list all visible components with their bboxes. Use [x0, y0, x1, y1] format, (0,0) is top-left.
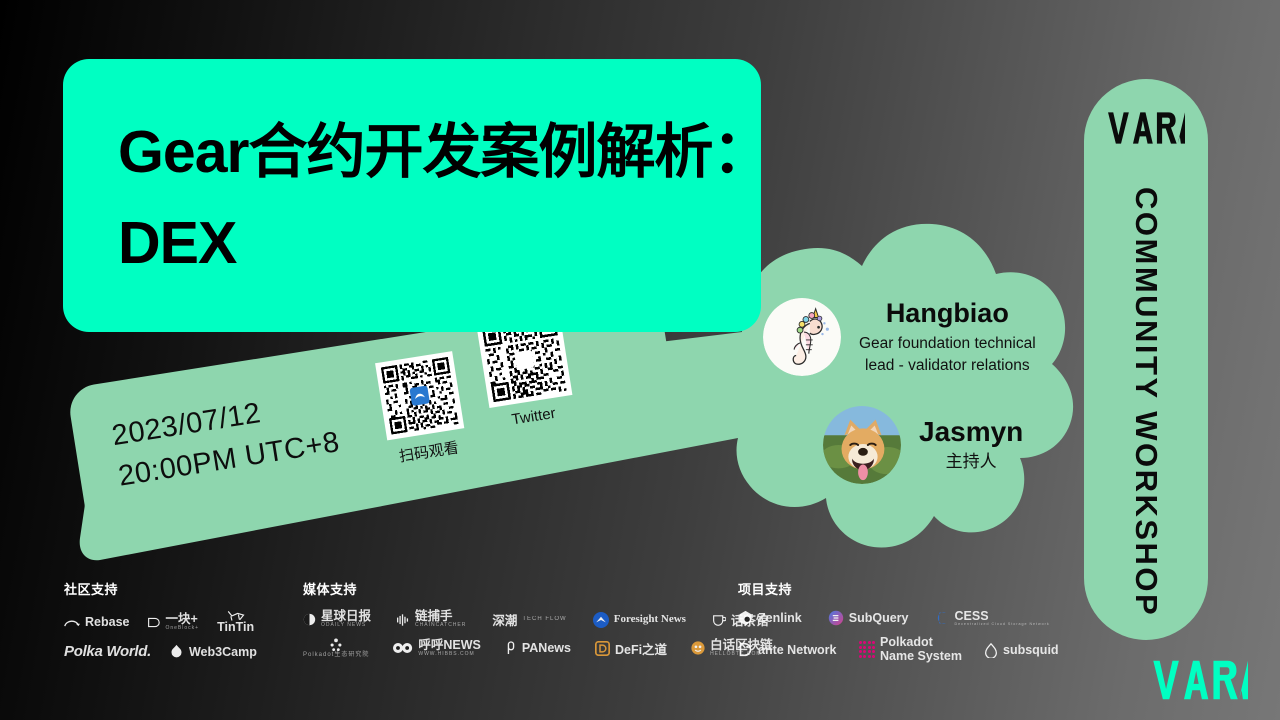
community-workshop-pill: COMMUNITY WORKSHOP	[1084, 79, 1208, 640]
sponsor-sublabel: Decentralized Cloud Storage Network	[955, 623, 1050, 627]
sponsors-community-heading: 社区支持	[64, 579, 257, 598]
twitter-qr-center-logo	[514, 350, 535, 371]
sponsor-tintin[interactable]: TinTin	[217, 610, 254, 634]
qr-caption-twitter: Twitter	[511, 405, 557, 429]
speaker-card-hangbiao: Hangbiao Gear foundation technical lead …	[763, 298, 1036, 376]
sponsor-foresight-news[interactable]: Foresight News	[593, 612, 686, 628]
avatar-jasmyn	[823, 406, 901, 484]
hexagon-icon	[738, 610, 753, 626]
bb-icon	[393, 642, 413, 654]
sponsor-row: Polka World. Web3Camp	[64, 643, 257, 660]
sponsor-sublabel: TECH FLOW	[522, 616, 566, 623]
sponsor-subsquid[interactable]: subsquid	[984, 642, 1059, 658]
sponsor-polkaworld[interactable]: Polka World.	[64, 643, 151, 660]
face-icon	[691, 641, 705, 655]
sponsor-sublabel: OneBlock+	[165, 626, 199, 631]
sponsor-huhu-news[interactable]: 呼呼NEWS WWW.HIBBS.COM	[393, 639, 481, 657]
d-icon	[738, 642, 753, 657]
title-line-1: Gear合约开发案例解析：	[118, 107, 727, 198]
qr-group: 扫码观看	[375, 332, 580, 468]
sponsors-media: 媒体支持 星球日报 ODAILY NEWS 链捕手 CHAINCATCHER 深…	[303, 579, 773, 667]
flame-icon	[169, 644, 184, 659]
polkadot-dots-icon	[329, 638, 343, 652]
d-square-icon	[595, 641, 610, 656]
sponsor-label: Foresight News	[614, 614, 686, 626]
sponsor-subquery[interactable]: SubQuery	[828, 610, 909, 626]
side-pill-label: COMMUNITY WORKSHOP	[1128, 187, 1164, 617]
title-panel: Gear合约开发案例解析： DEX	[63, 59, 761, 332]
diamond-icon	[593, 612, 609, 628]
sponsor-label: PANews	[522, 641, 571, 655]
pa-icon	[505, 641, 517, 655]
sponsor-label: Polkadot Name System	[880, 636, 962, 664]
arc-arrow-icon	[64, 618, 80, 627]
squid-icon	[984, 642, 998, 658]
sponsor-oneblock[interactable]: 一块+ OneBlock+	[147, 613, 199, 631]
bars-icon	[397, 614, 410, 626]
sponsor-defi-zhidao[interactable]: DeFi之道	[595, 639, 667, 658]
wechat-channel-icon	[410, 385, 431, 406]
sponsor-label: subsquid	[1003, 643, 1059, 657]
speaker-name: Hangbiao	[859, 298, 1036, 329]
sponsor-row: Rebase 一块+ OneBlock+ TinTin	[64, 610, 257, 634]
oneblock-icon	[147, 616, 160, 629]
speaker-role: 主持人	[919, 450, 1023, 473]
sponsor-row: ante Network Polkadot Name System subsqu…	[738, 636, 1059, 664]
vara-logo-icon	[1107, 105, 1185, 151]
shiba-dog-avatar-icon	[823, 406, 901, 484]
sponsors-project-heading: 项目支持	[738, 579, 1059, 598]
sponsor-polkadot-name-system[interactable]: Polkadot Name System	[859, 636, 963, 664]
sponsor-label: ante Network	[758, 643, 837, 657]
watch-qr-code[interactable]	[375, 351, 464, 440]
title-line-2: DEX	[118, 198, 727, 289]
c-shield-icon	[935, 610, 950, 626]
sponsor-sublabel: ODAILY NEWS	[321, 623, 371, 628]
event-datetime-text: 2023/07/12 20:00PM UTC+8	[109, 381, 342, 497]
speaker-card-jasmyn: Jasmyn 主持人	[823, 406, 1023, 484]
sponsor-row: 星球日报 ODAILY NEWS 链捕手 CHAINCATCHER 深潮 TEC…	[303, 610, 773, 629]
sponsor-techflow[interactable]: 深潮 TECH FLOW	[492, 610, 566, 629]
sponsor-label: 深潮	[492, 610, 517, 629]
sponsor-label: Polkadot生态研究院	[303, 652, 369, 658]
sponsors-media-heading: 媒体支持	[303, 579, 773, 598]
sponsor-sublabel: WWW.HIBBS.COM	[418, 652, 481, 657]
sponsor-ante-network[interactable]: ante Network	[738, 642, 837, 657]
sponsor-cess[interactable]: CESS Decentralized Cloud Storage Network	[935, 610, 1050, 627]
sponsor-rebase[interactable]: Rebase	[64, 615, 129, 629]
sponsor-label: TinTin	[217, 621, 254, 634]
sponsor-web3camp[interactable]: Web3Camp	[169, 644, 257, 659]
sponsor-label: Zenlink	[758, 611, 802, 625]
sponsor-sublabel: CHAINCATCHER	[415, 623, 466, 628]
sponsor-label: SubQuery	[849, 611, 909, 625]
cup-icon	[712, 613, 726, 626]
circle-half-icon	[303, 613, 316, 626]
sponsor-zenlink[interactable]: Zenlink	[738, 610, 802, 626]
sponsor-row: Zenlink SubQuery CESS Decentralized Clou…	[738, 610, 1059, 627]
sponsor-label: Web3Camp	[189, 645, 257, 659]
speaker-info-hangbiao: Hangbiao Gear foundation technical lead …	[859, 298, 1036, 376]
sponsor-label: Rebase	[85, 615, 129, 629]
sponsor-chaincatcher[interactable]: 链捕手 CHAINCATCHER	[397, 610, 466, 628]
avatar-hangbiao	[763, 298, 841, 376]
speaker-info-jasmyn: Jasmyn 主持人	[919, 416, 1023, 474]
sponsor-polkadot-research[interactable]: Polkadot生态研究院	[303, 638, 369, 658]
sponsors-strip: 社区支持 Rebase 一块+ OneBlock+ TinTin	[0, 575, 1280, 720]
sponsors-project: 项目支持 Zenlink SubQuery CESS Decentralized…	[738, 579, 1059, 672]
pink-dots-icon	[859, 641, 876, 658]
gradient-circle-icon	[828, 610, 844, 626]
qr-item-watch[interactable]: 扫码观看	[375, 351, 469, 468]
sponsors-community: 社区支持 Rebase 一块+ OneBlock+ TinTin	[64, 579, 257, 669]
speaker-name: Jasmyn	[919, 416, 1023, 448]
sponsor-odaily[interactable]: 星球日报 ODAILY NEWS	[303, 610, 371, 628]
sponsor-panews[interactable]: PANews	[505, 641, 571, 655]
sponsor-label: DeFi之道	[615, 639, 667, 658]
qr-caption-watch: 扫码观看	[398, 436, 461, 466]
sponsor-row: Polkadot生态研究院 呼呼NEWS WWW.HIBBS.COM PANew…	[303, 638, 773, 658]
seahorse-unicorn-avatar-icon	[763, 298, 841, 376]
speaker-role: Gear foundation technical lead - validat…	[859, 333, 1036, 376]
